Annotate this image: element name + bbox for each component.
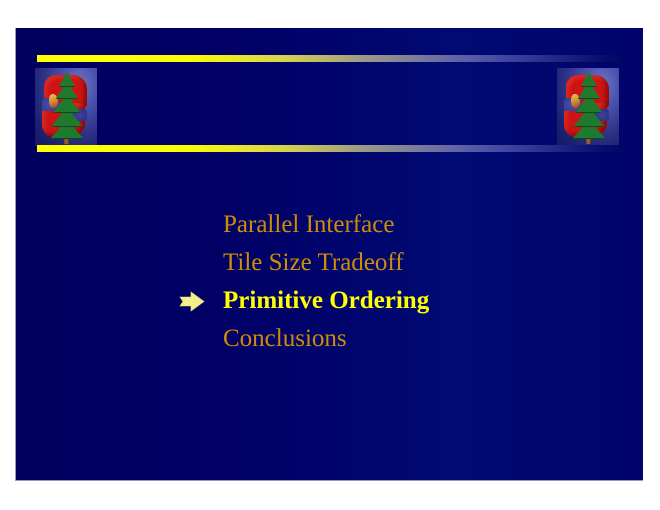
- logo-tree-tier-1: [59, 72, 75, 86]
- stanford-tree-logo-icon-left: [35, 68, 97, 146]
- slide-header: [16, 28, 643, 160]
- page-canvas: Parallel Interface Tile Size Tradeoff Pr…: [0, 0, 660, 510]
- stanford-tree-logo-icon-right: [557, 68, 619, 146]
- agenda-item-label: Tile Size Tradeoff: [223, 244, 404, 282]
- agenda-item-label: Parallel Interface: [223, 206, 394, 244]
- agenda-item-parallel-interface: Parallel Interface: [16, 206, 643, 244]
- right-arrow-bullet-icon: [179, 291, 205, 312]
- agenda-item-tile-size-tradeoff: Tile Size Tradeoff: [16, 244, 643, 282]
- header-rule-top: [37, 55, 621, 62]
- agenda-item-label: Primitive Ordering: [223, 282, 429, 320]
- agenda-item-primitive-ordering: Primitive Ordering: [16, 282, 643, 320]
- agenda-list: Parallel Interface Tile Size Tradeoff Pr…: [16, 206, 643, 358]
- header-rule-bottom: [37, 145, 621, 152]
- agenda-item-conclusions: Conclusions: [16, 320, 643, 358]
- logo-tree-tier-1: [581, 72, 597, 86]
- presentation-slide: Parallel Interface Tile Size Tradeoff Pr…: [15, 28, 643, 481]
- agenda-item-label: Conclusions: [223, 320, 347, 358]
